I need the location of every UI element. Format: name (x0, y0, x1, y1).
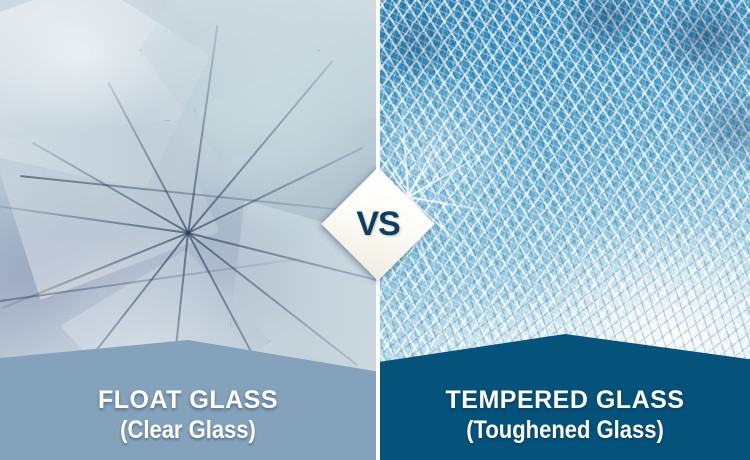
tempered-glass-caption-bar: TEMPERED GLASS (Toughened Glass) (380, 334, 750, 460)
float-glass-title: FLOAT GLASS (0, 387, 376, 415)
tempered-glass-title: TEMPERED GLASS (380, 387, 750, 415)
panel-tempered-glass[interactable]: TEMPERED GLASS (Toughened Glass) (380, 0, 750, 460)
float-glass-subtitle: (Clear Glass) (23, 415, 354, 446)
comparison-infographic: FLOAT GLASS (Clear Glass) (0, 0, 750, 460)
vs-badge: VS (338, 184, 418, 264)
float-glass-caption-bar: FLOAT GLASS (Clear Glass) (0, 340, 376, 460)
float-glass-caption-text: FLOAT GLASS (Clear Glass) (0, 387, 376, 446)
tempered-glass-caption-text: TEMPERED GLASS (Toughened Glass) (380, 387, 750, 446)
vs-label: VS (338, 184, 418, 264)
panel-float-glass[interactable]: FLOAT GLASS (Clear Glass) (0, 0, 376, 460)
tempered-glass-subtitle: (Toughened Glass) (402, 415, 728, 446)
